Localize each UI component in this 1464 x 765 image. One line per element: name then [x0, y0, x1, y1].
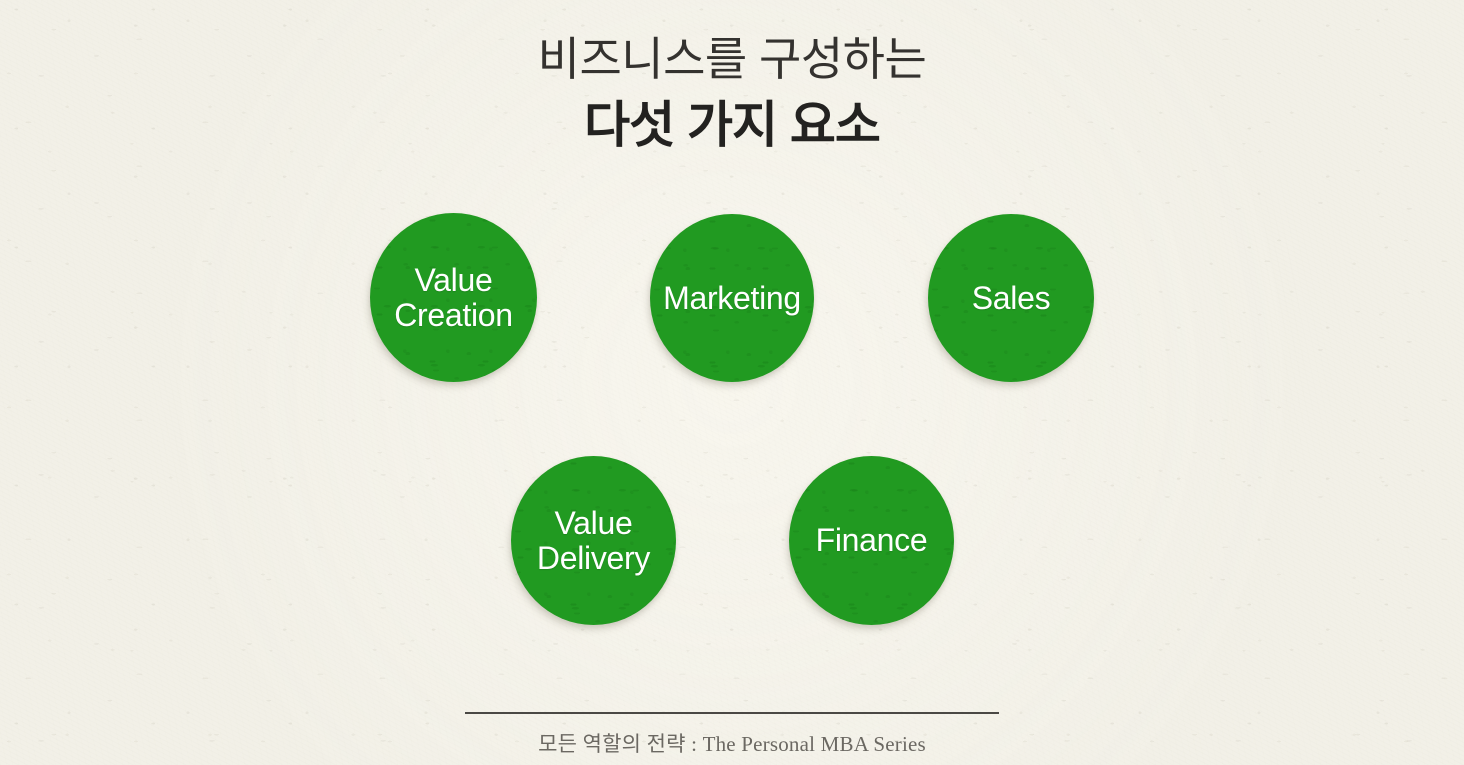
circle-marketing: Marketing: [650, 214, 814, 382]
slide-canvas: 비즈니스를 구성하는 다섯 가지 요소 Value Creation Marke…: [0, 0, 1464, 765]
circle-label-value-creation: Value Creation: [394, 263, 513, 332]
circle-finance: Finance: [789, 456, 954, 625]
circle-label-marketing: Marketing: [663, 281, 801, 316]
circle-label-value-delivery: Value Delivery: [537, 506, 650, 575]
footer-series-label: 모든 역할의 전략 : The Personal MBA Series: [465, 728, 999, 758]
slide-title-line-1: 비즈니스를 구성하는: [0, 36, 1464, 100]
circle-sales: Sales: [928, 214, 1094, 382]
footer-divider: [465, 712, 999, 714]
slide-footer: 모든 역할의 전략 : The Personal MBA Series: [465, 712, 999, 758]
circle-label-finance: Finance: [816, 523, 928, 558]
slide-title: 비즈니스를 구성하는 다섯 가지 요소: [0, 36, 1464, 150]
slide-title-line-2: 다섯 가지 요소: [0, 100, 1464, 150]
circle-value-delivery: Value Delivery: [511, 456, 676, 625]
circle-value-creation: Value Creation: [370, 213, 537, 382]
circle-label-sales: Sales: [972, 281, 1051, 316]
